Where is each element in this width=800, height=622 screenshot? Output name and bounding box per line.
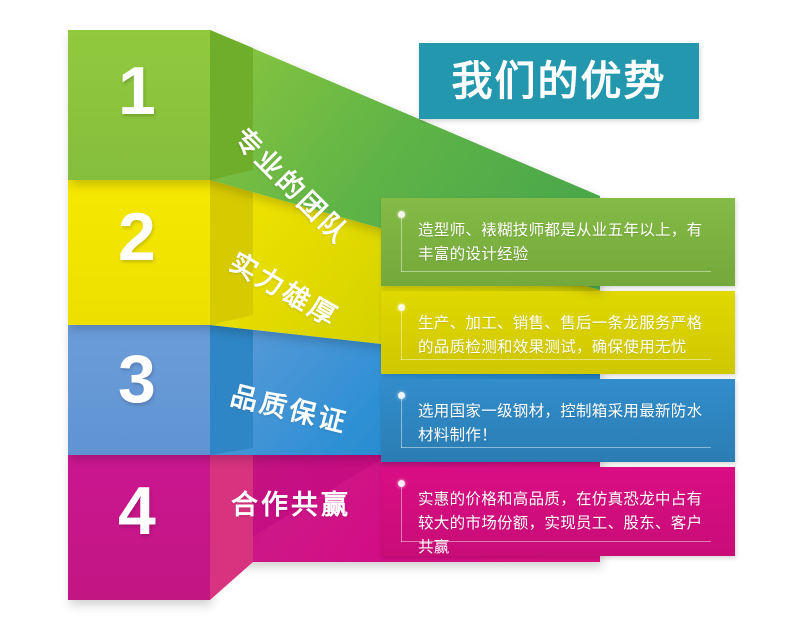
- step-number-3[interactable]: 3: [118, 345, 156, 413]
- step-number-1[interactable]: 1: [118, 57, 156, 125]
- infographic-canvas: 我们的优势 1 2 3 4 专业的团队 实力雄厚 品质保证 合作共赢 造型师、裱…: [0, 0, 800, 622]
- step-number-2[interactable]: 2: [118, 203, 156, 271]
- step-3-block: [68, 325, 253, 455]
- step-description-3: 选用国家一级钢材，控制箱采用最新防水材料制作！: [418, 400, 707, 448]
- panel-rule-vertical: [401, 310, 402, 360]
- step-description-panel-3[interactable]: 选用国家一级钢材，控制箱采用最新防水材料制作！: [381, 379, 735, 462]
- step-description-4: 实惠的价格和高品质，在仿真恐龙中占有较大的市场份额，实现员工、股东、客户共赢: [418, 488, 707, 560]
- step-description-panel-4[interactable]: 实惠的价格和高品质，在仿真恐龙中占有较大的市场份额，实现员工、股东、客户共赢: [381, 467, 735, 556]
- step-label-4[interactable]: 合作共赢: [231, 492, 351, 519]
- step-description-panel-1[interactable]: 造型师、裱糊技师都是从业五年以上，有丰富的设计经验: [381, 198, 735, 286]
- step-1-block: [68, 30, 253, 180]
- step-description-panel-2[interactable]: 生产、加工、销售、售后一条龙服务严格的品质检测和效果测试，确保使用无忧: [381, 291, 735, 374]
- panel-rule-horizontal: [401, 271, 711, 272]
- panel-rule-vertical: [401, 398, 402, 448]
- panel-rule-vertical: [401, 486, 402, 542]
- title-banner[interactable]: 我们的优势: [419, 43, 699, 119]
- step-2-block: [68, 180, 253, 325]
- step-description-2: 生产、加工、销售、售后一条龙服务严格的品质检测和效果测试，确保使用无忧: [418, 312, 707, 360]
- panel-rule-vertical: [401, 217, 402, 272]
- page-title: 我们的优势: [452, 61, 667, 102]
- step-description-1: 造型师、裱糊技师都是从业五年以上，有丰富的设计经验: [418, 219, 707, 267]
- step-number-4[interactable]: 4: [118, 477, 156, 545]
- step-4-block: [68, 455, 253, 600]
